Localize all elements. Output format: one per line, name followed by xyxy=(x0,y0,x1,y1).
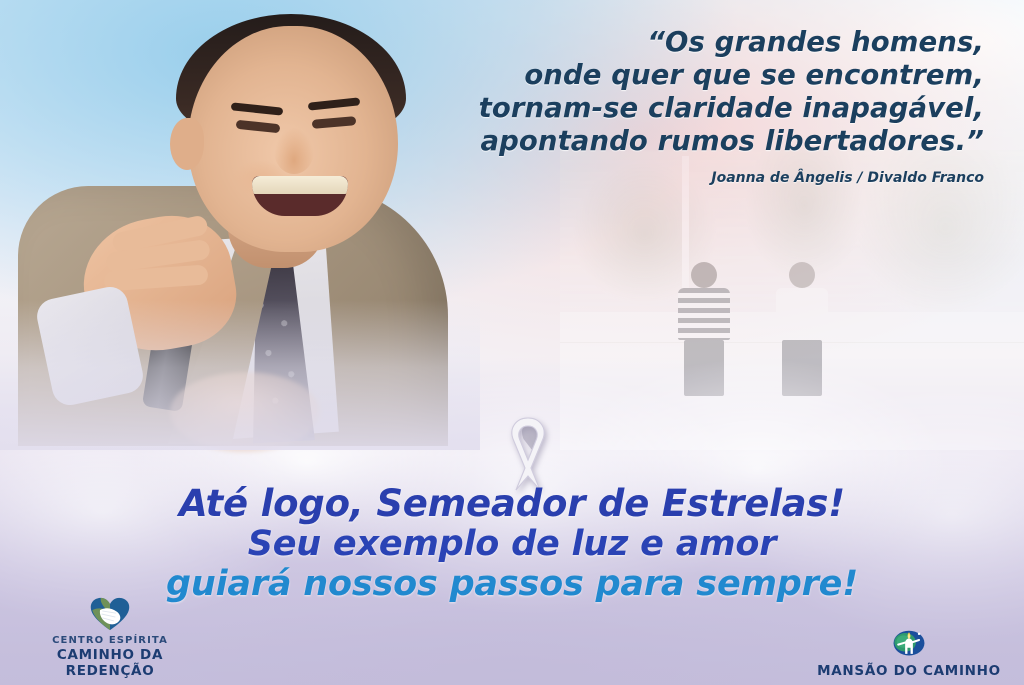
globe-with-figure-and-flame-icon xyxy=(804,623,1014,657)
ear xyxy=(170,118,204,170)
quote-line-2: onde quer que se encontrem, xyxy=(424,59,984,92)
portrait-fade-overlay xyxy=(0,300,480,450)
headline-block: Até logo, Semeador de Estrelas! Seu exem… xyxy=(0,484,1024,604)
headline-line-1: Até logo, Semeador de Estrelas! xyxy=(0,484,1024,524)
quote-line-1: “Os grandes homens, xyxy=(424,26,984,59)
quote-block: “Os grandes homens, onde quer que se enc… xyxy=(424,26,984,186)
mansao-do-caminho-logo: MANSÃO DO CAMINHO xyxy=(804,623,1014,679)
teeth xyxy=(252,176,348,194)
centro-espirita-line-1: CENTRO ESPÍRITA xyxy=(10,634,210,647)
mansao-do-caminho-label: MANSÃO DO CAMINHO xyxy=(804,663,1014,679)
quote-line-3: tornam-se claridade inapagável, xyxy=(424,92,984,125)
quote-attribution: Joanna de Ângelis / Divaldo Franco xyxy=(424,170,984,186)
headline-line-2: Seu exemplo de luz e amor xyxy=(0,524,1024,564)
centro-espirita-line-2: CAMINHO DA REDENÇÃO xyxy=(10,647,210,679)
quote-line-4: apontando rumos libertadores.” xyxy=(424,125,984,158)
memorial-poster: “Os grandes homens, onde quer que se enc… xyxy=(0,0,1024,685)
centro-espirita-logo: CENTRO ESPÍRITA CAMINHO DA REDENÇÃO xyxy=(10,597,210,679)
portrait-figure xyxy=(0,0,470,440)
smiling-mouth xyxy=(252,176,348,216)
heart-with-hand-icon xyxy=(10,597,210,631)
